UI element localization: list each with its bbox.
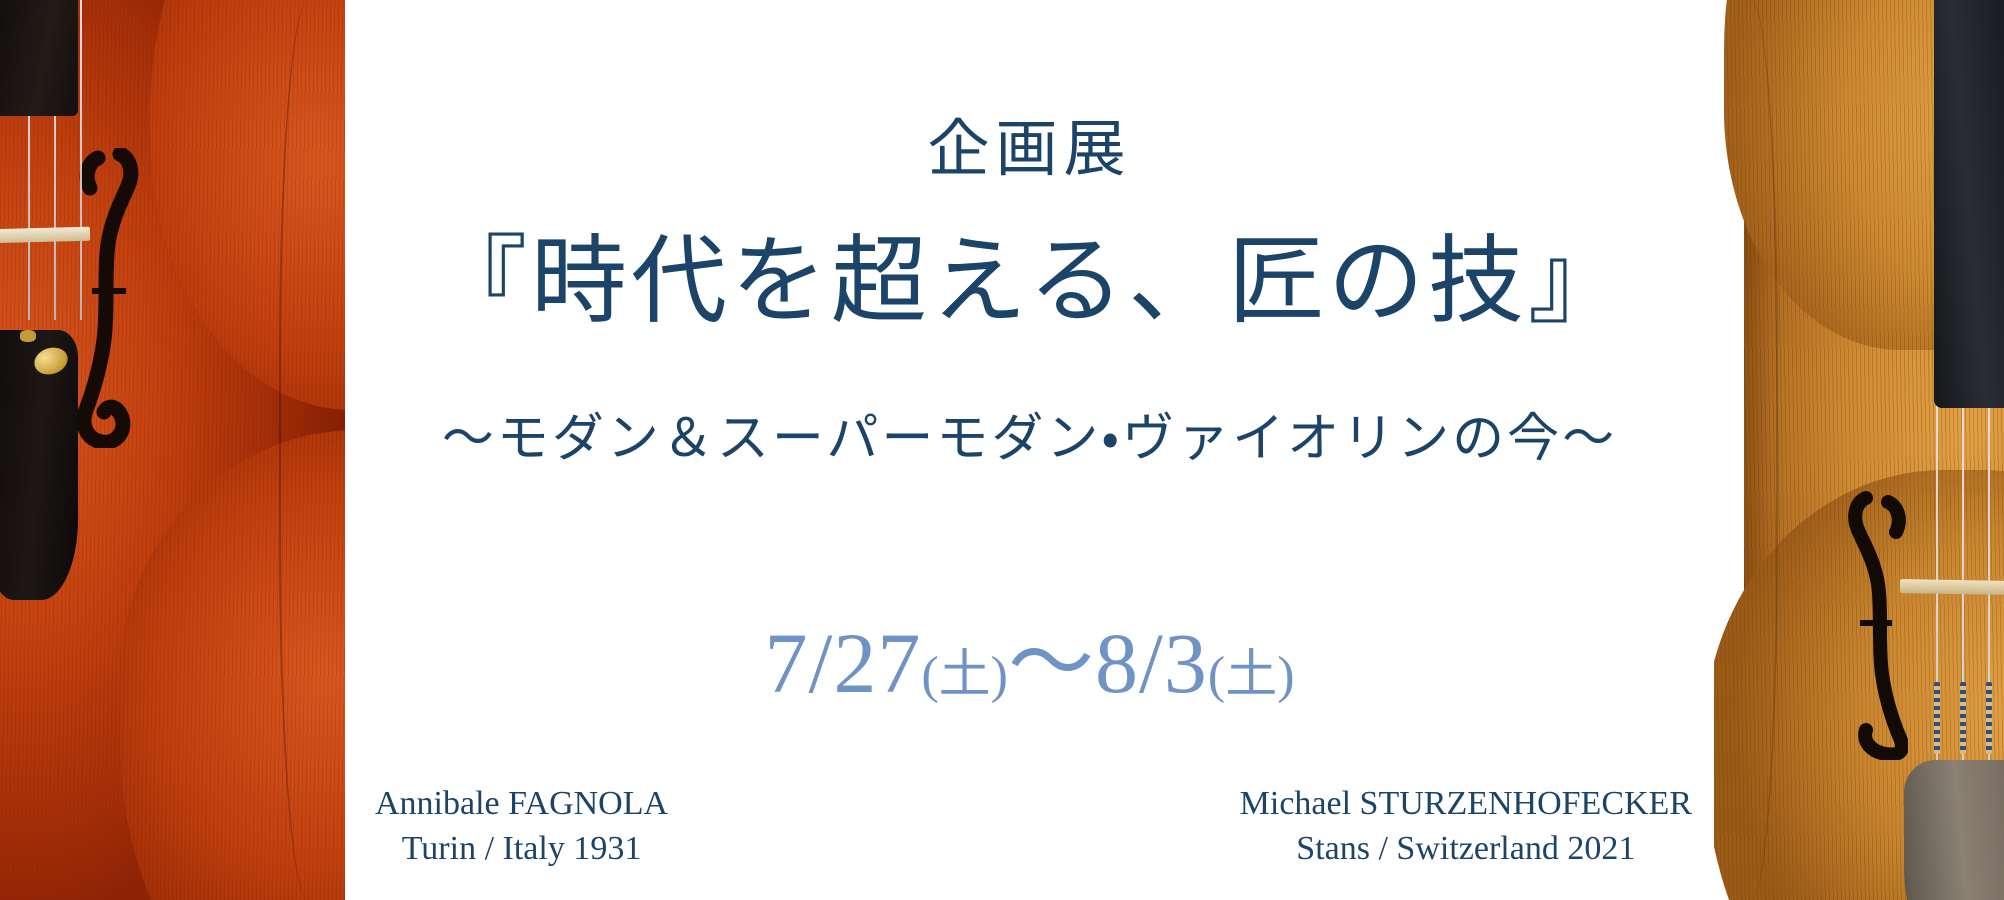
violin-right-fingerboard [1934,0,2004,408]
page-subtitle: 〜モダン＆スーパーモダン・ヴァイオリンの今〜 [345,408,1714,470]
banner-text-content: 企画展 『時代を超える、匠の技』 〜モダン＆スーパーモダン・ヴァイオリンの今〜 … [345,0,1714,900]
violin-right-bridge [1900,579,2004,595]
violin-left-purfling [279,0,345,900]
date-start: 7/27 [764,615,921,711]
date-end-weekday: (土) [1208,647,1295,704]
violin-left-f-hole [78,148,142,448]
date-end: 8/3 [1095,615,1208,711]
violin-photo-right [1714,0,2004,900]
caption-left-violin: Annibale FAGNOLA Turin / Italy 1931 [375,782,668,872]
violin-left-bridge [0,227,90,244]
violin-left-fine-tuner-arm [20,330,36,342]
violin-right-purfling [1714,0,1778,900]
violin-left-string-3 [80,0,82,320]
exhibition-banner: 企画展 『時代を超える、匠の技』 〜モダン＆スーパーモダン・ヴァイオリンの今〜 … [0,0,2004,900]
violin-left-fingerboard [0,0,78,116]
page-title: 『時代を超える、匠の技』 [345,230,1714,334]
date-start-weekday: (土) [921,647,1008,704]
caption-left-origin: Turin / Italy 1931 [375,827,668,872]
caption-left-maker: Annibale FAGNOLA [375,785,668,822]
caption-right-origin: Stans / Switzerland 2021 [1240,827,1692,872]
violin-photo-left [0,0,345,900]
violin-right-f-hole [1848,490,1908,760]
violin-right-tailpiece [1904,760,2004,900]
eyebrow-label: 企画展 [345,118,1714,180]
caption-right-maker: Michael STURZENHOFECKER [1240,785,1692,822]
date-separator: 〜 [1008,615,1095,711]
caption-right-violin: Michael STURZENHOFECKER Stans / Switzerl… [1240,782,1692,872]
exhibition-dates: 7/27(土)〜8/3(土) [345,620,1714,706]
